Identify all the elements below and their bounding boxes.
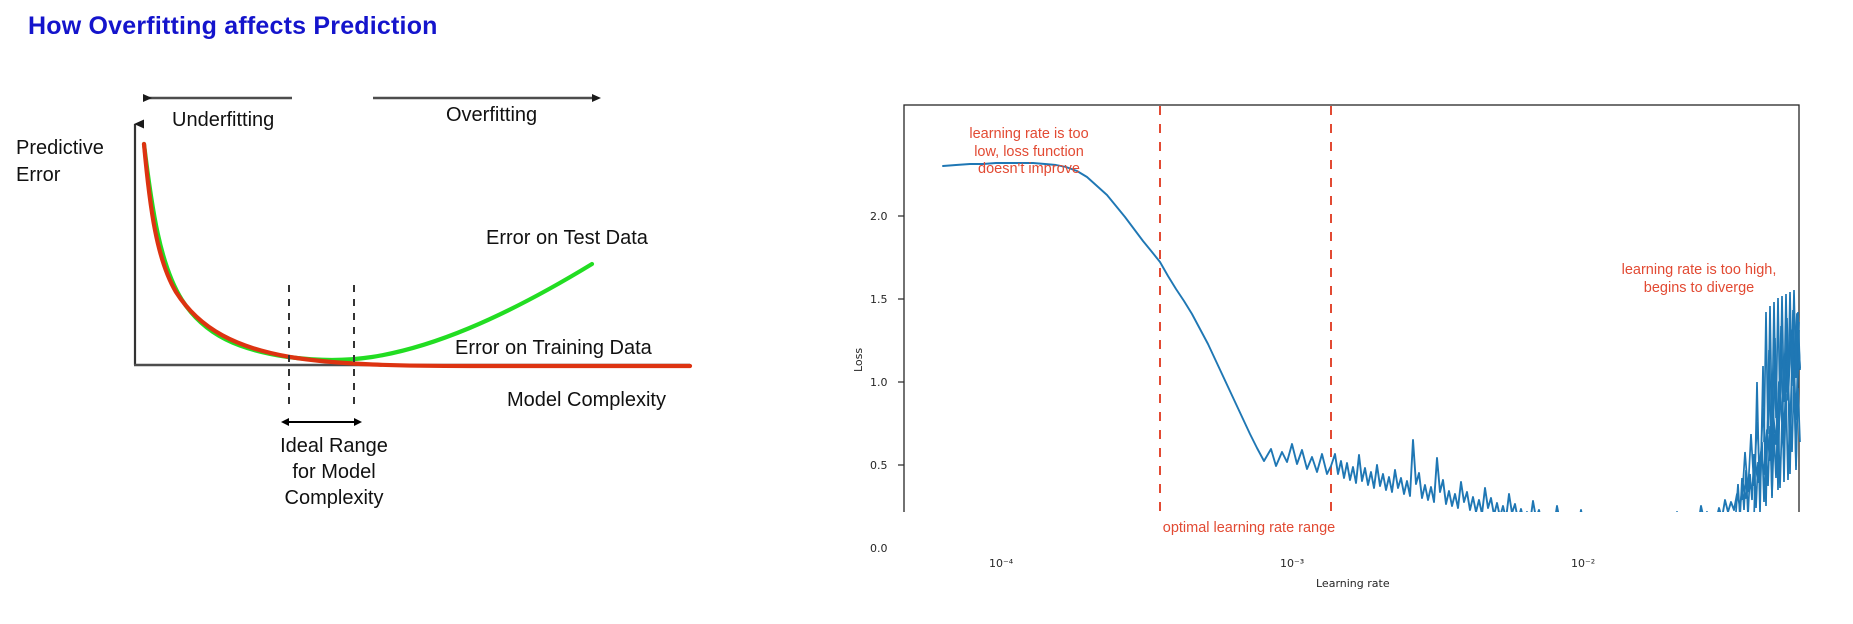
underfitting-label: Underfitting bbox=[172, 109, 274, 132]
training-error-curve bbox=[144, 144, 690, 366]
y-tick-2: 1.0 bbox=[870, 376, 888, 389]
x-tick-2: 10⁻² bbox=[1571, 557, 1595, 570]
page-title: How Overfitting affects Prediction bbox=[28, 12, 438, 41]
lr-finder-chart: 0.0 0.5 1.0 1.5 2.0 10⁻⁴ 10⁻³ 10⁻² Learn… bbox=[724, 82, 1814, 512]
y-axis-title: Loss bbox=[852, 348, 865, 372]
annotation-lr-too-high: learning rate is too high, begins to div… bbox=[1589, 262, 1809, 297]
x-axis-title: Learning rate bbox=[1316, 577, 1390, 590]
y-axis-label: PredictiveError bbox=[16, 135, 146, 189]
training-error-curve-label: Error on Training Data bbox=[455, 337, 652, 360]
test-error-curve-label: Error on Test Data bbox=[486, 227, 648, 250]
y-tick-3: 1.5 bbox=[870, 293, 888, 306]
annotation-lr-too-low: learning rate is too low, loss function … bbox=[934, 126, 1124, 179]
annotation-optimal-range: optimal learning rate range bbox=[1124, 520, 1374, 538]
x-tick-1: 10⁻³ bbox=[1280, 557, 1304, 570]
y-tick-1: 0.5 bbox=[870, 459, 888, 472]
y-tick-marks bbox=[898, 216, 904, 512]
overfitting-tradeoff-diagram: PredictiveError Underfitting Overfitting… bbox=[0, 60, 710, 560]
slide-root: How Overfitting affects Prediction bbox=[0, 0, 1853, 624]
y-tick-4: 2.0 bbox=[870, 210, 888, 223]
x-axis-label: Model Complexity bbox=[507, 389, 666, 412]
overfitting-label: Overfitting bbox=[446, 104, 537, 127]
y-tick-0: 0.0 bbox=[870, 542, 888, 555]
x-tick-0: 10⁻⁴ bbox=[989, 557, 1013, 570]
ideal-range-caption: Ideal Rangefor Model Complexity bbox=[249, 433, 419, 511]
